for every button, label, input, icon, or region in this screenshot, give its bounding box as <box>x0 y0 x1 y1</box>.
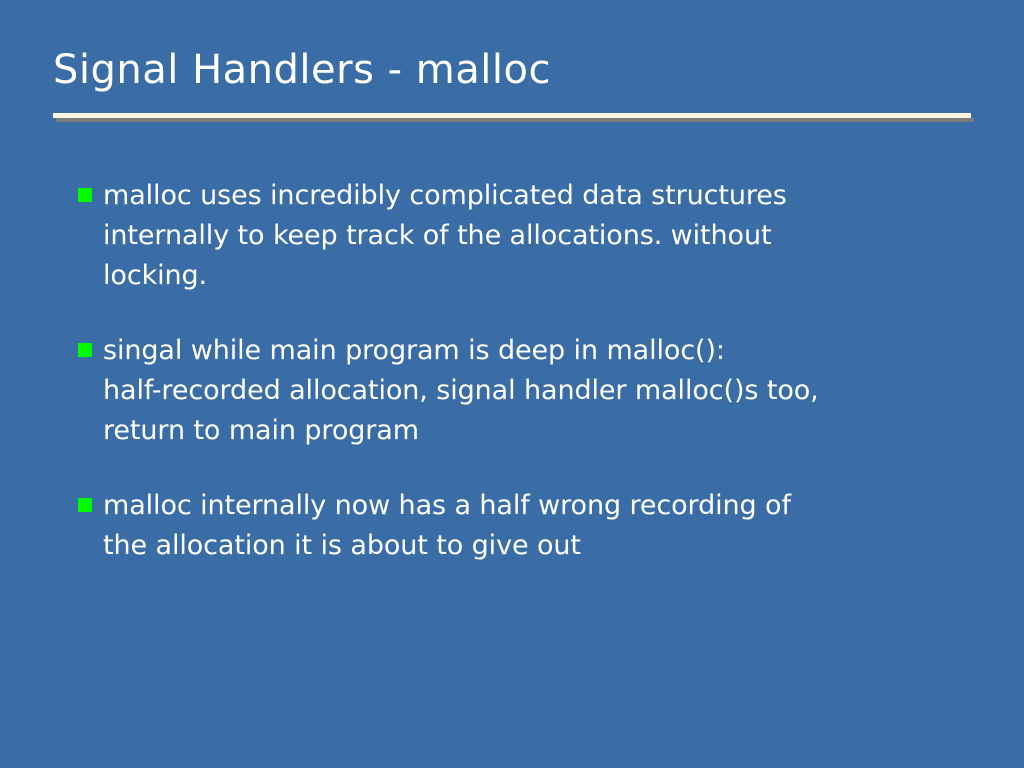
bullet-line: locking. <box>103 256 968 296</box>
bullet-line: the allocation it is about to give out <box>103 526 968 566</box>
bullet-line: malloc uses incredibly complicated data … <box>103 176 968 216</box>
presentation-slide: Signal Handlers - malloc malloc uses inc… <box>0 0 1024 768</box>
list-item: singal while main program is deep in mal… <box>78 331 968 451</box>
title-divider-rule-shadow <box>56 118 974 122</box>
green-square-bullet-icon <box>78 498 92 512</box>
bullet-text: singal while main program is deep in mal… <box>103 331 968 451</box>
bullet-line: return to main program <box>103 411 968 451</box>
list-item: malloc uses incredibly complicated data … <box>78 176 968 296</box>
slide-title-block: Signal Handlers - malloc <box>53 44 971 96</box>
list-item: malloc internally now has a half wrong r… <box>78 486 968 566</box>
bullet-line: half-recorded allocation, signal handler… <box>103 371 968 411</box>
bullet-line: internally to keep track of the allocati… <box>103 216 968 256</box>
bullet-text: malloc uses incredibly complicated data … <box>103 176 968 296</box>
bullet-line: malloc internally now has a half wrong r… <box>103 486 968 526</box>
slide-body: malloc uses incredibly complicated data … <box>78 176 968 566</box>
bullet-line: singal while main program is deep in mal… <box>103 331 968 371</box>
bullet-text: malloc internally now has a half wrong r… <box>103 486 968 566</box>
page-title: Signal Handlers - malloc <box>53 44 971 96</box>
green-square-bullet-icon <box>78 188 92 202</box>
green-square-bullet-icon <box>78 343 92 357</box>
